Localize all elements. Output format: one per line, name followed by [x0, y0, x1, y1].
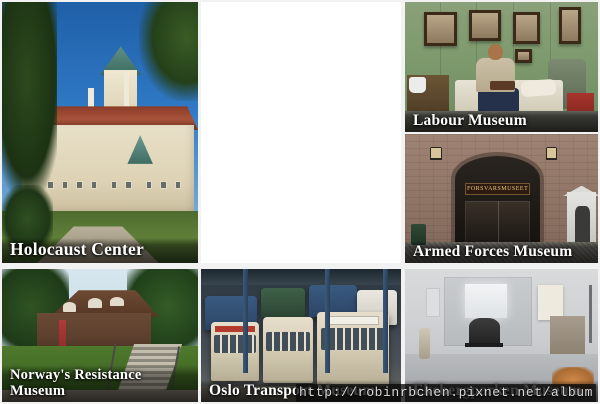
watermark-url: http://robinrbchen.pixnet.net/album — [296, 384, 596, 402]
window-light — [465, 284, 507, 319]
floor — [405, 111, 598, 132]
artwork — [538, 285, 563, 320]
tram — [211, 322, 259, 381]
tram-windows — [321, 328, 384, 350]
tram-windows — [214, 335, 256, 353]
framed-picture — [424, 12, 457, 46]
framed-picture — [559, 7, 580, 43]
book — [490, 81, 515, 90]
wall-lantern-icon — [546, 147, 558, 160]
tree-right — [139, 2, 198, 101]
framed-picture — [515, 49, 532, 63]
photo-armed-forces-museum: FORSVARSMUSEET — [405, 134, 598, 263]
tram — [261, 288, 305, 317]
person-legs — [478, 88, 519, 114]
tile-norways-resistance-museum[interactable]: Norway's Resistance Museum — [2, 269, 198, 402]
photo-norways-resistance-museum — [2, 269, 198, 402]
photo-holocaust-center — [2, 2, 198, 263]
wooden-cabinet — [550, 316, 585, 356]
framed-picture — [469, 10, 502, 41]
photo-ekebergparken-museum — [405, 269, 598, 402]
window-row — [42, 181, 187, 196]
framed-picture — [513, 12, 540, 43]
pillow — [520, 79, 556, 97]
museum-sign: FORSVARSMUSEET — [465, 183, 531, 195]
jug — [409, 77, 426, 93]
tile-oslo-transport-museum[interactable]: Oslo Transport Museum — [201, 269, 401, 402]
destination-board — [327, 316, 379, 325]
photo-oslo-transport-museum — [201, 269, 401, 402]
tram-windows — [266, 332, 310, 352]
steel-column — [383, 269, 388, 373]
tile-armed-forces-museum[interactable]: FORSVARSMUSEET Armed Forces Museum — [405, 134, 598, 263]
tile-holocaust-center[interactable]: Holocaust Center — [2, 2, 198, 263]
roof-beam — [201, 269, 401, 285]
tree-left — [2, 2, 57, 206]
wall-lantern-icon — [430, 147, 442, 160]
tram — [263, 317, 313, 384]
entrance-doors — [465, 201, 531, 244]
standing-figure — [419, 328, 431, 360]
artwork — [426, 288, 440, 317]
dormer-window — [63, 302, 77, 311]
bin — [411, 224, 426, 245]
photo-labour-museum — [405, 2, 598, 132]
tile-labour-museum[interactable]: Labour Museum — [405, 2, 598, 132]
walkway — [2, 390, 198, 402]
cobbled-ground — [405, 242, 598, 263]
tile-ekebergparken-museum[interactable]: Ekebergparken Museum — [405, 269, 598, 402]
photo-collage: Holocaust Center Labour Museu — [0, 0, 600, 404]
plinth — [465, 343, 504, 347]
dormer-window — [88, 298, 102, 307]
display-pole — [589, 285, 592, 344]
collage-spacer — [201, 2, 401, 263]
dormer-window — [110, 297, 124, 306]
bush — [2, 185, 53, 253]
destination-board — [215, 326, 255, 332]
steel-column — [325, 269, 330, 373]
steel-column — [243, 269, 248, 373]
